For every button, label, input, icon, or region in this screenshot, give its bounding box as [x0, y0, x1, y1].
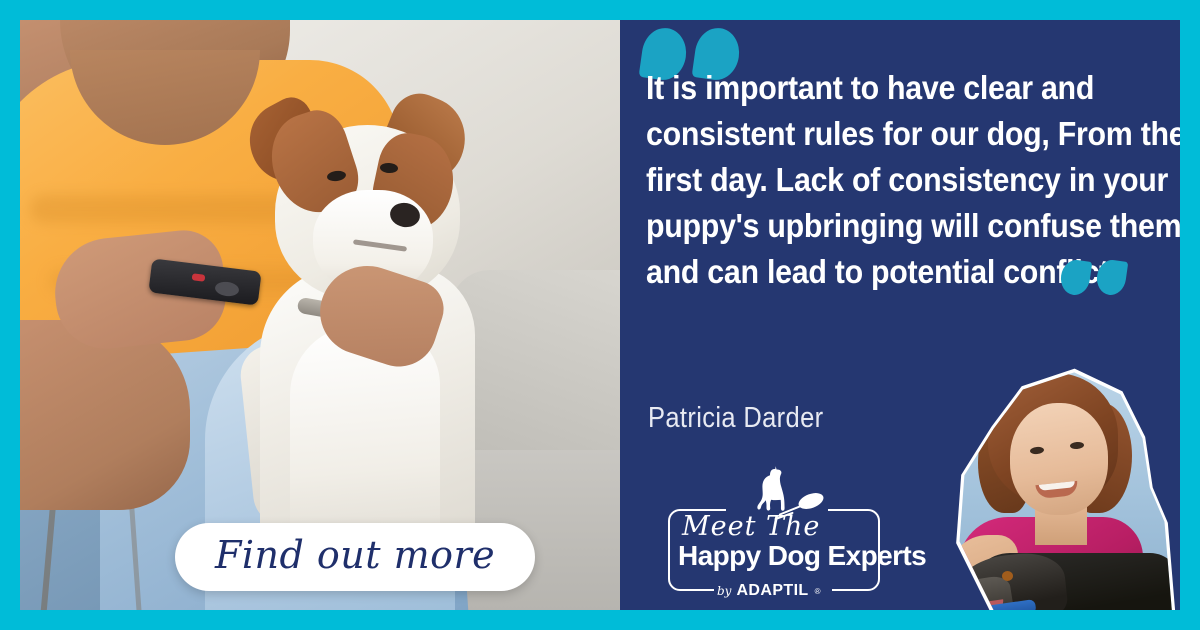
logo-by-word: by: [717, 584, 731, 598]
logo-main-line: Happy Dog Experts: [678, 542, 926, 570]
cutout-image: [940, 365, 1180, 610]
logo-script-line: Meet The: [682, 513, 820, 540]
expert-face: [1010, 403, 1108, 515]
banner-inner: Find out more It is important to have cl…: [20, 20, 1180, 610]
quote-panel: It is important to have clear and consis…: [620, 20, 1180, 610]
black-dog-nose: [946, 587, 960, 598]
logo-byline: by ADAPTIL ®: [717, 582, 821, 600]
expert-photo-cutout: [940, 365, 1180, 610]
quote-glyph: [1095, 258, 1129, 297]
quote-line: It is important to have clear and: [646, 65, 1104, 111]
logo-brand: ADAPTIL: [736, 582, 808, 600]
quote-line: and can lead to potential conflict.: [646, 249, 1104, 295]
black-dog-eye: [1002, 571, 1013, 581]
meet-the-happy-dog-experts-logo: Meet The Happy Dog Experts by ADAPTIL ®: [656, 463, 891, 603]
promo-banner: Find out more It is important to have cl…: [0, 0, 1200, 630]
close-quote-icon: [1061, 260, 1126, 295]
quote-line: consistent rules for our dog, From the: [646, 111, 1104, 157]
sitting-dog-silhouette-icon: [744, 465, 794, 515]
quote-line: first day. Lack of consistency in your: [646, 157, 1104, 203]
quote-glyph: [1059, 258, 1093, 297]
find-out-more-button[interactable]: Find out more: [175, 523, 535, 591]
find-out-more-label: Find out more: [215, 536, 495, 574]
registered-trademark-icon: ®: [815, 587, 821, 596]
lifestyle-photo: Find out more: [20, 20, 620, 610]
quote-line: puppy's upbringing will confuse them,: [646, 203, 1104, 249]
remote-power-button-icon: [192, 273, 206, 282]
quote-author: Patricia Darder: [648, 402, 823, 435]
